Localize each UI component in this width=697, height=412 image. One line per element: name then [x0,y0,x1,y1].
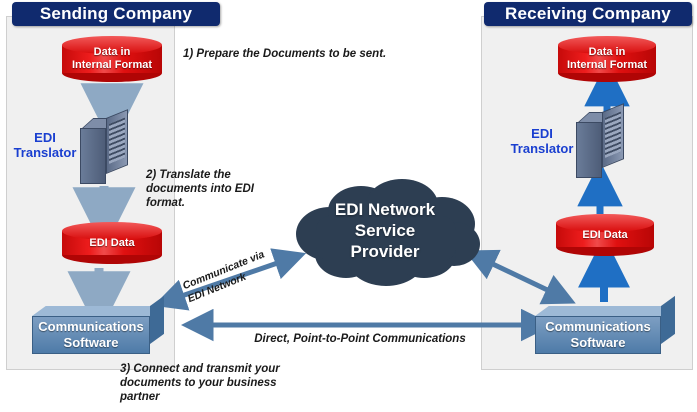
receiving-edi-translator-server-icon [576,112,624,178]
sending-data-line1: Data in [94,46,131,59]
box-front-face: Communications Software [535,316,661,354]
box-front-face: Communications Software [32,316,150,354]
point-to-point-arrow-label: Direct, Point-to-Point Communications [240,333,480,345]
cloud-line2: Service [355,220,416,241]
receiving-communications-software-box: Communications Software [535,306,675,354]
cylinder-label: Data in Internal Format [62,36,162,82]
receiving-edi-translator-label: EDI Translator [505,126,579,156]
sending-company-banner: Sending Company [12,2,220,26]
receiving-comms-line1: Communications [545,319,650,335]
sending-edi-translator-server-icon [80,118,128,184]
server-drive-bays [605,112,621,158]
server-drive-bays [109,118,125,164]
translator-line1: EDI [12,130,78,145]
edi-flow-diagram: Sending Company Receiving Company Data i… [0,0,697,412]
sending-data-line2: Internal Format [72,59,152,72]
cylinder-label: EDI Data [556,214,654,256]
cloud-line1: EDI Network [335,199,435,220]
sending-data-internal-format-cylinder: Data in Internal Format [62,36,162,82]
receiving-data-line1: Data in [589,46,626,59]
edi-network-service-provider-cloud: EDI Network Service Provider [286,178,484,288]
box-top-face [535,306,675,316]
receiving-data-internal-format-cylinder: Data in Internal Format [558,36,656,82]
sending-comms-line1: Communications [38,319,143,335]
server-front-face [80,128,106,184]
box-right-face [150,296,164,344]
receiving-data-line2: Internal Format [567,59,647,72]
step-2-note: 2) Translate the documents into EDI form… [146,168,266,210]
step-3-note: 3) Connect and transmit your documents t… [120,362,310,404]
receiving-company-banner: Receiving Company [484,2,692,26]
translator-line2: Translator [505,141,579,156]
sending-edi-data-cylinder: EDI Data [62,222,162,264]
receiving-comms-line2: Software [571,335,626,351]
cloud-label: EDI Network Service Provider [286,178,484,288]
sending-edi-translator-label: EDI Translator [12,130,78,160]
box-right-face [661,296,675,344]
step-1-note: 1) Prepare the Documents to be sent. [183,47,433,61]
translator-line2: Translator [12,145,78,160]
receiving-edi-data-cylinder: EDI Data [556,214,654,256]
cylinder-label: EDI Data [62,222,162,264]
cylinder-label: Data in Internal Format [558,36,656,82]
box-top-face [32,306,164,316]
server-front-face [576,122,602,178]
translator-line1: EDI [505,126,579,141]
sending-communications-software-box: Communications Software [32,306,164,354]
receiving-company-title: Receiving Company [505,4,671,24]
cloud-line3: Provider [351,241,420,262]
sending-comms-line2: Software [64,335,119,351]
sending-company-title: Sending Company [40,4,192,24]
